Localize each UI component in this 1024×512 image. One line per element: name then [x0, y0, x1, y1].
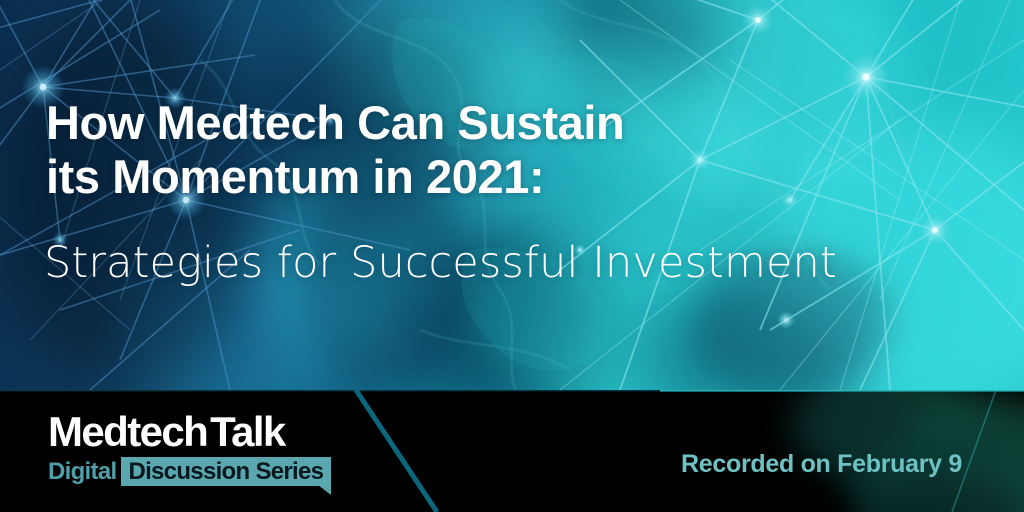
logo-medtech: Medtech	[48, 408, 207, 455]
hero-background: How Medtech Can Sustain its Momentum in …	[0, 0, 1024, 390]
logo-tagline-digital: Digital	[48, 457, 121, 486]
logo-talk: Talk	[210, 408, 285, 455]
medtechtalk-webinar-banner: How Medtech Can Sustain its Momentum in …	[0, 0, 1024, 512]
logo-wordmark: MedtechTalk	[48, 410, 331, 454]
medtechtalk-logo[interactable]: MedtechTalk Digital Discussion Series	[48, 410, 331, 487]
logo-tagline: Digital Discussion Series	[48, 457, 331, 487]
recorded-date-label: Recorded on February 9	[681, 450, 962, 479]
title-line-2: its Momentum in 2021:	[46, 150, 986, 204]
logo-tagline-series: Discussion Series	[128, 458, 323, 485]
page-subtitle: Strategies for Successful Investment	[44, 238, 837, 288]
speech-bubble-icon: Discussion Series	[121, 457, 331, 486]
page-title: How Medtech Can Sustain its Momentum in …	[46, 96, 986, 204]
title-line-1: How Medtech Can Sustain	[46, 96, 986, 150]
